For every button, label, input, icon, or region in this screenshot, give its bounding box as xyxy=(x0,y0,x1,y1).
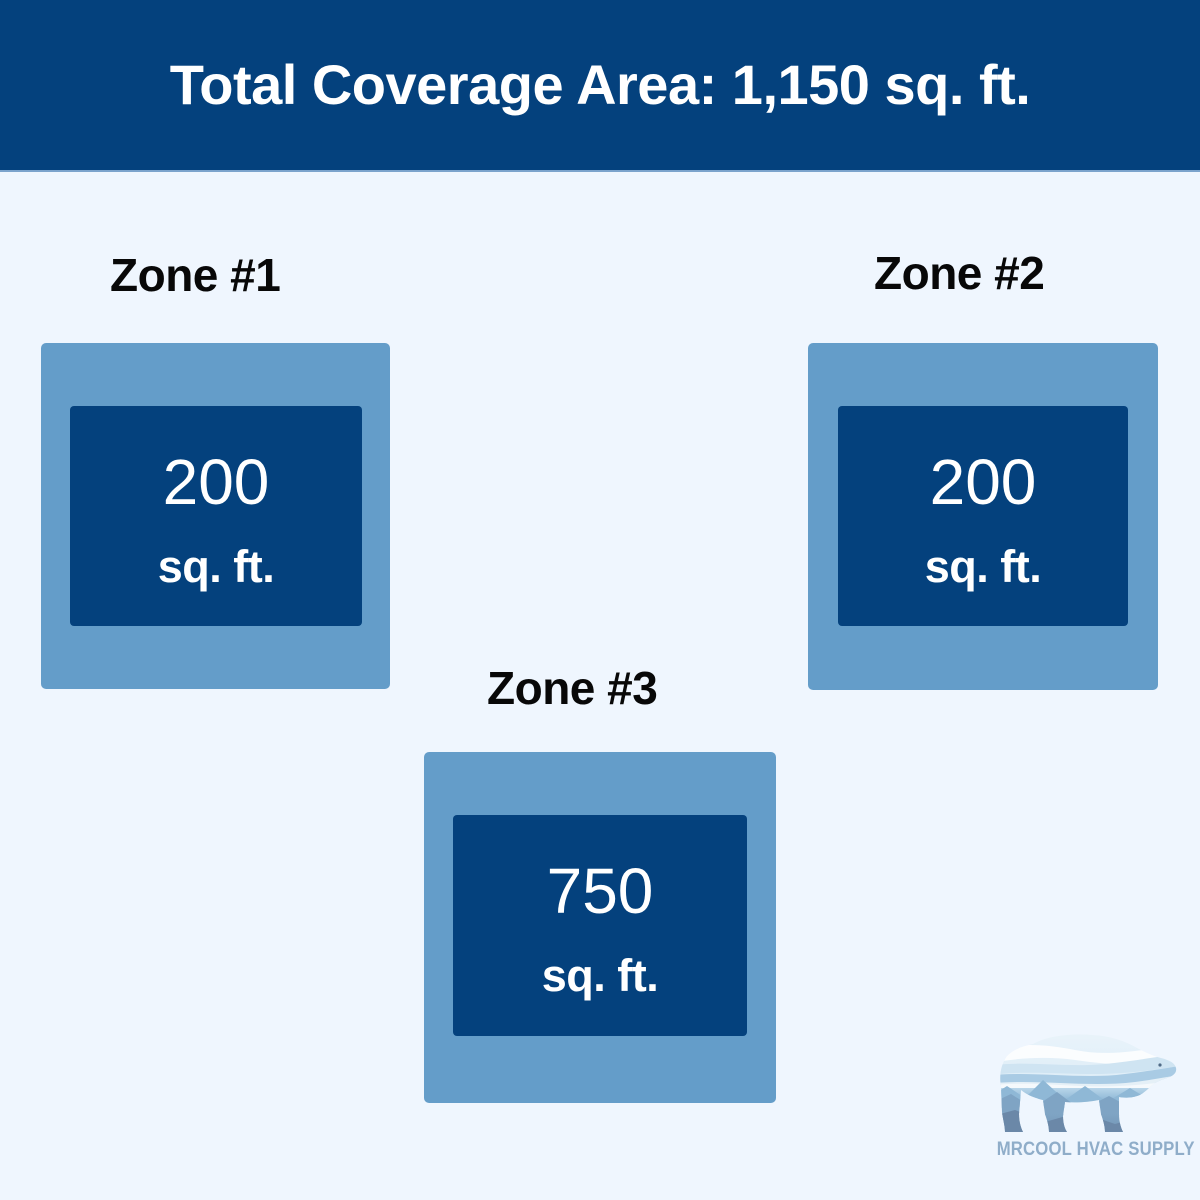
zone-outer-box-1: 200 sq. ft. xyxy=(41,343,390,689)
zone-value-2: 200 xyxy=(930,450,1037,514)
zone-unit-1: sq. ft. xyxy=(158,544,275,589)
zone-value-3: 750 xyxy=(547,859,654,923)
bear-eye-icon xyxy=(1158,1063,1161,1066)
zone-inner-box-1: 200 sq. ft. xyxy=(70,406,362,626)
polar-bear-icon xyxy=(985,1030,1180,1140)
zone-inner-box-3: 750 sq. ft. xyxy=(453,815,747,1036)
zone-label-3: Zone #3 xyxy=(487,665,657,711)
header-banner: Total Coverage Area: 1,150 sq. ft. xyxy=(0,0,1200,170)
zone-unit-3: sq. ft. xyxy=(542,953,659,998)
brand-name: MRCOOL HVAC SUPPLY xyxy=(997,1140,1169,1159)
zone-outer-box-3: 750 sq. ft. xyxy=(424,752,776,1103)
brand-logo: MRCOOL HVAC SUPPLY xyxy=(985,1030,1180,1180)
zone-unit-2: sq. ft. xyxy=(925,544,1042,589)
page-title: Total Coverage Area: 1,150 sq. ft. xyxy=(170,57,1031,113)
zone-outer-box-2: 200 sq. ft. xyxy=(808,343,1158,690)
zone-label-1: Zone #1 xyxy=(110,252,280,298)
zone-value-1: 200 xyxy=(163,450,270,514)
zone-inner-box-2: 200 sq. ft. xyxy=(838,406,1128,626)
zone-label-2: Zone #2 xyxy=(874,250,1044,296)
